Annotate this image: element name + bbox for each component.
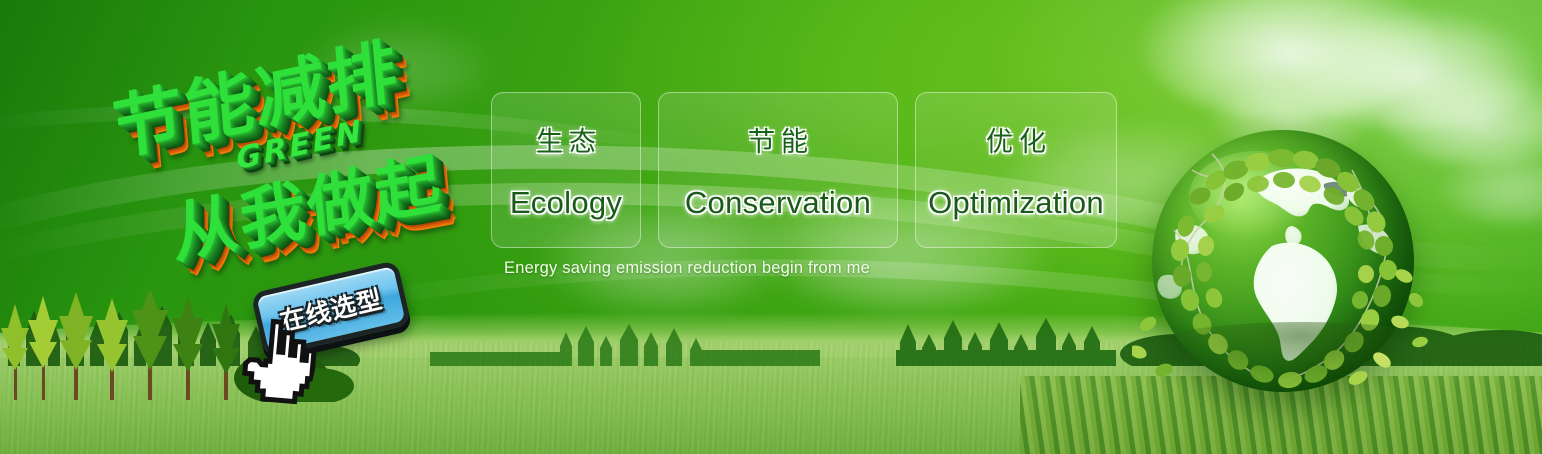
- feature-card-conservation[interactable]: 节能 Conservation: [658, 92, 898, 248]
- feature-card-en-label: Ecology: [510, 185, 622, 221]
- feature-card-cn-label: 生态: [530, 120, 602, 159]
- green-earth-globe-icon: [1132, 116, 1432, 426]
- feature-card-en-label: Conservation: [685, 185, 871, 221]
- floating-leaves-icon: [1132, 116, 1432, 426]
- feature-card-optimization[interactable]: 优化 Optimization: [915, 92, 1117, 248]
- feature-card-cn-label: 节能: [742, 120, 814, 159]
- banner-tagline: Energy saving emission reduction begin f…: [504, 259, 870, 278]
- feature-card-list: 生态 Ecology 节能 Conservation 优化 Optimizati…: [491, 92, 1117, 248]
- feature-card-ecology[interactable]: 生态 Ecology: [491, 92, 641, 248]
- hero-title-artwork: 节能减排 GREEN 从我做起: [90, 26, 501, 277]
- green-energy-banner: 节能减排 GREEN 从我做起 在线选型 生态 Ecology 节能 Conse…: [0, 0, 1542, 454]
- feature-card-en-label: Optimization: [928, 185, 1104, 221]
- feature-card-cn-label: 优化: [980, 120, 1052, 159]
